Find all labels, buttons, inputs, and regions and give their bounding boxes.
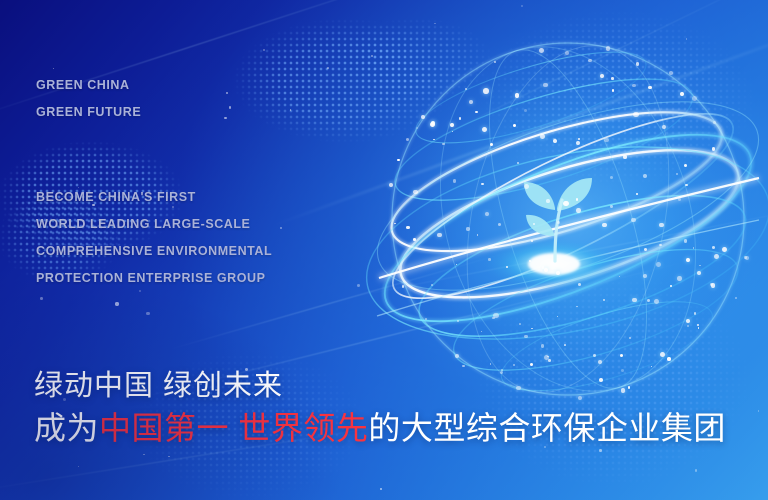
- particle-dot: [676, 173, 678, 175]
- particle-dot: [693, 247, 695, 249]
- particle-dot: [602, 223, 607, 228]
- particle-dot: [466, 227, 469, 230]
- particle-dot: [557, 316, 558, 317]
- particle-dot: [677, 276, 682, 281]
- particle-dot: [492, 317, 495, 320]
- particle-dot: [712, 147, 716, 151]
- particle-dot: [229, 106, 232, 109]
- headline-accent: 中国第一 世界领先: [99, 410, 368, 446]
- particle-dot: [714, 254, 719, 259]
- particle-dot: [712, 246, 715, 249]
- particle-dot: [557, 221, 561, 225]
- particle-dot: [611, 77, 614, 80]
- particle-dot: [692, 96, 697, 101]
- particle-dot: [697, 271, 701, 275]
- particle-dot: [632, 84, 635, 87]
- particle-dot: [482, 127, 487, 132]
- particle-dot: [565, 51, 569, 55]
- tagline-line: GREEN CHINA: [36, 72, 141, 99]
- particle-dot: [481, 183, 484, 186]
- globe-orbital-rings: [349, 63, 768, 372]
- particle-dot: [469, 100, 473, 104]
- particle-dot: [606, 46, 611, 51]
- particle-dot: [490, 143, 493, 146]
- particle-dot: [477, 234, 479, 236]
- particle-dot: [654, 299, 659, 304]
- particle-dot: [576, 141, 580, 145]
- particle-dot: [593, 354, 596, 357]
- sprout-leaf-lower-left: [526, 215, 554, 236]
- particle-dot: [546, 199, 550, 203]
- particle-dot: [531, 328, 533, 330]
- particle-dot: [498, 223, 501, 226]
- particle-dot: [327, 67, 329, 69]
- particle-dot: [280, 227, 282, 229]
- particle-dot: [524, 335, 528, 339]
- particle-dot: [697, 324, 699, 326]
- particle-dot: [433, 139, 435, 141]
- particle-dot: [406, 226, 410, 230]
- globe-svg: [377, 28, 759, 410]
- particle-dot: [442, 143, 445, 146]
- particle-dot: [465, 88, 468, 91]
- particle-dot: [699, 265, 701, 267]
- particle-dot: [744, 256, 747, 259]
- particle-dot: [475, 111, 478, 114]
- particle-dot: [600, 74, 604, 78]
- globe-ambient-glow: [378, 29, 758, 409]
- headline-suffix: 的大型综合环保企业集团: [368, 410, 726, 446]
- particle-dot: [421, 115, 426, 120]
- particle-dot: [678, 198, 681, 201]
- particle-dot: [647, 299, 650, 302]
- particle-dot: [380, 488, 382, 490]
- particle-dot: [540, 134, 545, 139]
- particle-dot: [452, 131, 454, 133]
- particle-dot: [524, 109, 527, 112]
- particle-dot: [643, 274, 647, 278]
- particle-dot: [684, 239, 688, 243]
- particle-dot: [437, 233, 441, 237]
- particle-dot: [143, 454, 145, 456]
- particle-dot: [533, 223, 535, 225]
- chinese-headline: 绿动中国 绿创未来 成为中国第一 世界领先的大型综合环保企业集团: [34, 366, 726, 450]
- chinese-headline-line1: 绿动中国 绿创未来: [34, 366, 726, 406]
- particle-dot: [564, 344, 566, 346]
- particle-dot: [598, 360, 602, 364]
- particle-dot: [710, 283, 713, 286]
- particle-dot: [40, 297, 43, 300]
- particle-dot: [576, 208, 581, 213]
- particle-dot: [643, 174, 647, 178]
- particle-dot: [629, 337, 631, 339]
- particle-dot: [455, 354, 459, 358]
- wireframe-globe: [377, 28, 759, 410]
- particle-dot: [662, 125, 666, 129]
- particle-dot: [604, 138, 609, 143]
- particle-dot: [517, 162, 519, 164]
- particle-dot: [290, 109, 292, 111]
- particle-dot: [544, 355, 549, 360]
- particle-dot: [425, 318, 427, 320]
- particle-dot: [735, 297, 737, 299]
- sprout-leaf-upper-left: [524, 182, 555, 210]
- particle-dot: [542, 266, 545, 269]
- particle-dot: [648, 86, 652, 90]
- particle-dot: [667, 357, 671, 361]
- particle-dot: [494, 61, 496, 63]
- sprout-leaf-upper-right: [557, 178, 592, 211]
- particle-dot: [524, 184, 529, 189]
- particle-dot: [619, 276, 620, 277]
- particle-dot: [544, 268, 548, 272]
- particle-dot: [481, 331, 483, 333]
- dot-map-region-top-right: [300, 0, 530, 120]
- english-tagline: GREEN CHINA GREEN FUTURE: [36, 72, 141, 126]
- particle-dot: [687, 325, 689, 327]
- particle-dot: [416, 127, 418, 129]
- particle-dot: [553, 138, 555, 140]
- particle-dot: [488, 258, 491, 261]
- light-streak: [402, 0, 768, 155]
- particle-dot: [682, 92, 684, 94]
- globe-outline-glow: [392, 43, 744, 395]
- particle-dot: [453, 179, 456, 182]
- particle-dot: [357, 284, 360, 287]
- seedling-sprout-icon: [510, 156, 600, 266]
- particle-dot: [456, 264, 458, 266]
- particle-dot: [406, 138, 409, 141]
- particle-dot: [698, 327, 700, 329]
- particle-dot: [431, 284, 433, 286]
- particle-dot: [660, 352, 665, 357]
- particle-dot: [636, 62, 639, 65]
- headline-prefix: 成为: [34, 410, 99, 446]
- particle-dot: [402, 285, 405, 288]
- dot-map-region-upper-right: [430, 0, 768, 210]
- globe-core-burst: [484, 238, 624, 290]
- particle-dot: [506, 266, 508, 268]
- particle-dot: [556, 271, 560, 275]
- particle-dot: [659, 223, 663, 227]
- particle-dot: [644, 248, 647, 251]
- particle-dot: [515, 93, 520, 98]
- particle-dot: [695, 469, 698, 472]
- particle-dot: [588, 59, 592, 63]
- light-streak: [335, 200, 768, 300]
- particle-dot: [226, 92, 228, 94]
- globe-outline: [392, 43, 744, 395]
- particle-dot: [656, 262, 661, 267]
- particle-dot: [722, 247, 727, 252]
- particle-dot: [146, 312, 149, 315]
- particle-dot: [669, 71, 673, 75]
- particle-dot: [623, 155, 627, 159]
- particle-dot: [485, 212, 489, 216]
- particle-dot: [745, 256, 749, 260]
- particle-dot: [457, 320, 459, 322]
- mission-line: COMPREHENSIVE ENVIRONMENTAL: [36, 238, 272, 265]
- globe-meridian-rings: [400, 15, 736, 423]
- particle-dot: [680, 92, 685, 97]
- particle-dot: [394, 223, 396, 225]
- particle-dot: [168, 456, 170, 458]
- particle-dot: [53, 68, 54, 69]
- particle-dot: [578, 283, 581, 286]
- particle-dot: [483, 88, 488, 93]
- particle-dot: [459, 117, 462, 120]
- particle-dot: [519, 323, 521, 325]
- particle-dot: [529, 260, 531, 262]
- particle-dot: [686, 38, 688, 40]
- mission-line: PROTECTION ENTERPRISE GROUP: [36, 265, 272, 292]
- particle-dot: [548, 359, 551, 362]
- particle-dot: [490, 363, 491, 364]
- particle-dot: [684, 164, 687, 167]
- particle-dot: [397, 159, 399, 161]
- particle-dot: [685, 184, 688, 187]
- particle-dot: [610, 176, 613, 179]
- particle-dot: [434, 23, 436, 25]
- mission-line: WORLD LEADING LARGE-SCALE: [36, 211, 272, 238]
- particle-dot: [713, 121, 716, 124]
- particle-dot: [603, 299, 605, 301]
- particle-dot: [513, 124, 516, 127]
- particle-dot: [413, 190, 418, 195]
- particle-dot: [612, 89, 615, 92]
- particle-dot: [493, 313, 498, 318]
- particle-dot: [694, 312, 697, 315]
- particle-dot: [686, 319, 690, 323]
- particle-dot: [659, 244, 662, 247]
- particle-dot: [576, 198, 578, 200]
- mission-line: BECOME CHINA'S FIRST: [36, 184, 272, 211]
- particle-dot: [578, 138, 580, 140]
- particle-dot: [371, 55, 373, 57]
- particle-dot: [413, 238, 416, 241]
- particle-dot: [610, 205, 613, 208]
- english-mission-statement: BECOME CHINA'S FIRST WORLD LEADING LARGE…: [36, 184, 272, 292]
- particle-dot: [620, 354, 623, 357]
- particle-dot: [430, 122, 435, 127]
- particle-dot: [758, 410, 760, 412]
- particle-dot: [553, 139, 557, 143]
- particle-dot: [711, 283, 716, 288]
- sprout-stem: [555, 200, 562, 261]
- particle-dot: [539, 48, 544, 53]
- particle-dot: [521, 5, 523, 7]
- particle-dot: [511, 143, 513, 145]
- particle-dot: [686, 258, 690, 262]
- particle-dot: [115, 302, 118, 305]
- particle-dot: [531, 240, 534, 243]
- tagline-line: GREEN FUTURE: [36, 99, 141, 126]
- globe-bright-sweep: [377, 178, 759, 316]
- dot-map-region-top: [180, 0, 480, 152]
- light-streak: [268, 14, 768, 228]
- particle-dot: [543, 83, 547, 87]
- particle-dot: [670, 285, 672, 287]
- particle-dot: [632, 298, 637, 303]
- particle-dot: [563, 201, 568, 206]
- particle-dot: [431, 121, 436, 126]
- particle-dot: [78, 466, 79, 467]
- chinese-headline-line2: 成为中国第一 世界领先的大型综合环保企业集团: [34, 406, 726, 450]
- particle-dot: [631, 218, 636, 223]
- particle-dot: [576, 306, 577, 307]
- particle-dot: [541, 344, 544, 347]
- particle-dot: [224, 117, 226, 119]
- particle-dot: [636, 193, 638, 195]
- particle-dot: [263, 49, 265, 51]
- particle-dot: [450, 123, 454, 127]
- globe-core-hotspot: [528, 253, 580, 275]
- particle-dot: [389, 183, 393, 187]
- particle-dot: [547, 356, 549, 358]
- hero-banner: GREEN CHINA GREEN FUTURE BECOME CHINA'S …: [0, 0, 768, 500]
- particle-dot: [633, 112, 638, 117]
- particle-dot: [544, 267, 547, 270]
